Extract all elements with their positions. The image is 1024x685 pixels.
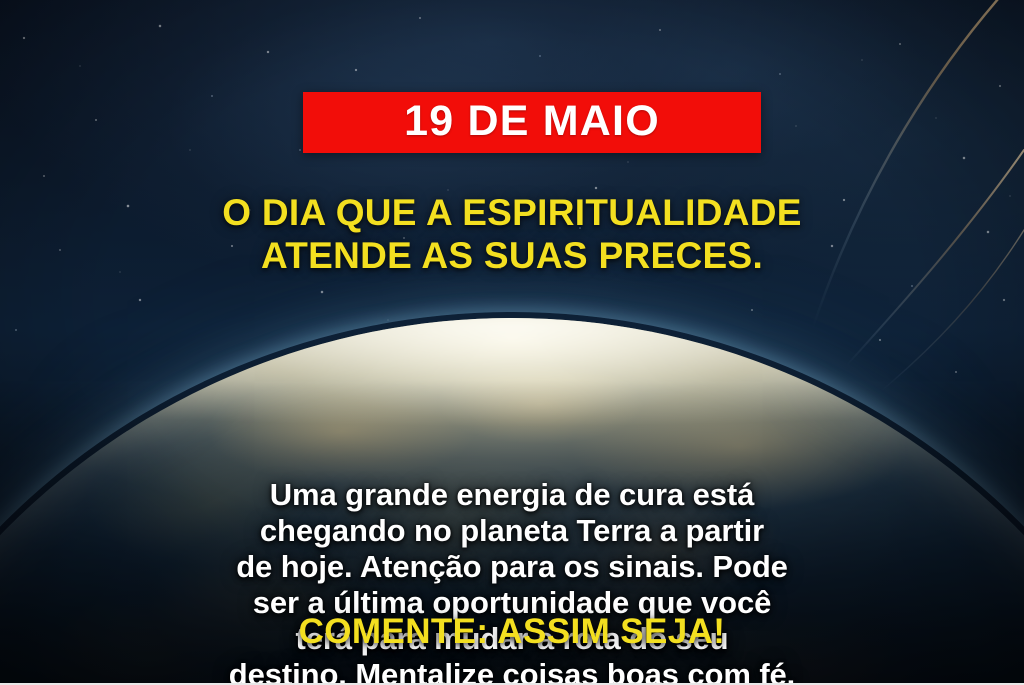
date-banner: 19 DE MAIO [303,92,761,153]
body-line-1: Uma grande energia de cura está [270,477,754,512]
poster-content: 19 DE MAIO O DIA QUE A ESPIRITUALIDADE A… [0,0,1024,683]
headline-line-1: O DIA QUE A ESPIRITUALIDADE [222,192,802,233]
body-line-3: de hoje. Atenção para os sinais. Pode [236,549,788,584]
body-line-2: chegando no planeta Terra a partir [260,513,764,548]
headline-line-2: ATENDE AS SUAS PRECES. [26,234,998,277]
call-to-action-label: COMENTE: ASSIM SEJA! [299,612,726,651]
call-to-action: COMENTE: ASSIM SEJA! [0,614,1024,649]
body-paragraph: Uma grande energia de cura está chegando… [62,477,962,685]
poster-canvas: 19 DE MAIO O DIA QUE A ESPIRITUALIDADE A… [0,0,1024,685]
headline: O DIA QUE A ESPIRITUALIDADE ATENDE AS SU… [0,191,1024,278]
date-banner-label: 19 DE MAIO [404,100,660,143]
body-line-6: destino. Mentalize coisas boas com fé. [229,657,795,685]
